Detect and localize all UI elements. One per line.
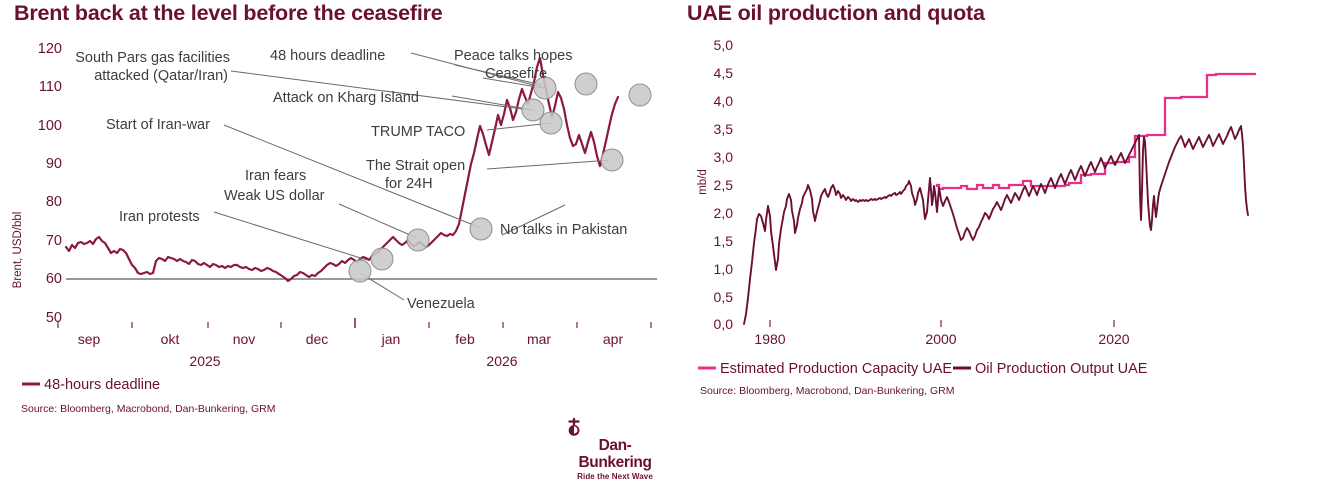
- x-tick-sep: sep: [78, 331, 101, 347]
- y-tick-1-5: 1,5: [714, 233, 734, 249]
- x-year-2025: 2025: [189, 353, 220, 369]
- brent-chart: 120 110 100 90 80 70 60 50 Brent, USD/bb…: [0, 0, 671, 468]
- anchor-b-icon: [563, 418, 667, 437]
- annotation-ceasefire: Ceasefire: [485, 66, 547, 82]
- y-tick-110: 110: [39, 79, 62, 95]
- annotation-attack-kharg: Attack on Kharg Island: [273, 90, 419, 106]
- y-tick-50: 50: [46, 310, 62, 326]
- y-tick-100: 100: [38, 118, 62, 134]
- uae-chart-svg-wrap: 5,0 4,5 4,0 3,5 3,0 2,5 2,0 1,5 1,0 0,5 …: [671, 0, 1342, 468]
- annotation-weak-us-dollar: Weak US dollar: [224, 188, 325, 204]
- x-axis-ticks-right: [770, 320, 1114, 327]
- uae-chart-panel: UAE oil production and quota 5,0 4,5 4,0…: [671, 0, 1342, 468]
- annotation-strait-open-line1: The Strait open: [366, 158, 465, 174]
- uae-chart: 5,0 4,5 4,0 3,5 3,0 2,5 2,0 1,5 1,0 0,5 …: [671, 0, 1342, 468]
- annotation-strait-open-line2: for 24H: [385, 176, 433, 192]
- y-tick-4-5: 4,5: [714, 65, 734, 81]
- marker-venezuela[interactable]: [349, 260, 371, 282]
- annotation-south-pars-line2: attacked (Qatar/Iran): [94, 68, 228, 84]
- x-tick-jan: jan: [381, 331, 401, 347]
- logo-tagline-left: Ride the Next Wave: [563, 471, 667, 482]
- x-axis-ticks-left: [58, 318, 651, 328]
- annotation-48-hours-deadline: 48 hours deadline: [270, 48, 385, 64]
- brent-chart-panel: Brent back at the level before the cease…: [0, 0, 671, 468]
- y-tick-120: 120: [38, 41, 62, 57]
- x-tick-mar: mar: [527, 331, 551, 347]
- y-axis-left: 120 110 100 90 80 70 60 50: [38, 41, 62, 326]
- y-tick-60: 60: [46, 271, 62, 287]
- y-tick-0-0: 0,0: [714, 316, 734, 332]
- source-note-left: Source: Bloomberg, Macrobond, Dan-Bunker…: [21, 403, 275, 415]
- x-tick-2000: 2000: [925, 331, 956, 347]
- legend-label-output: Oil Production Output UAE: [975, 361, 1148, 377]
- x-tick-okt: okt: [161, 331, 180, 347]
- y-tick-3-0: 3,0: [714, 149, 734, 165]
- marker-no-talks-pakistan[interactable]: [629, 84, 651, 106]
- marker-strait-open[interactable]: [601, 149, 623, 171]
- dan-bunkering-logo-left: Dan-Bunkering Ride the Next Wave: [563, 418, 667, 482]
- y-tick-80: 80: [46, 194, 62, 210]
- marker-attack-kharg[interactable]: [522, 99, 544, 121]
- marker-start-iran-war[interactable]: [470, 218, 492, 240]
- capacity-step-line: [937, 74, 1256, 189]
- y-tick-2-5: 2,5: [714, 177, 734, 193]
- annotation-venezuela: Venezuela: [407, 296, 476, 312]
- y-tick-4-0: 4,0: [714, 93, 734, 109]
- y-axis-title-right: mb/d: [697, 169, 709, 195]
- x-tick-dec: dec: [306, 331, 329, 347]
- y-tick-70: 70: [46, 233, 62, 249]
- logo-wordmark-left: Dan-Bunkering: [563, 437, 667, 471]
- annotation-peace-talks: Peace talks hopes: [454, 48, 573, 64]
- brent-chart-svg-wrap: 120 110 100 90 80 70 60 50 Brent, USD/bb…: [0, 0, 671, 468]
- marker-trump-taco[interactable]: [540, 112, 562, 134]
- marker-iran-protests[interactable]: [371, 248, 393, 270]
- legend-right: Estimated Production Capacity UAE Oil Pr…: [698, 361, 1148, 377]
- y-axis-title-left: Brent, USD/bbl: [12, 212, 24, 289]
- y-tick-0-5: 0,5: [714, 289, 734, 305]
- source-note-right: Source: Bloomberg, Macrobond, Dan-Bunker…: [700, 385, 954, 397]
- legend-label-capacity: Estimated Production Capacity UAE: [720, 361, 952, 377]
- annotation-south-pars-line1: South Pars gas facilities: [75, 50, 230, 66]
- x-tick-feb: feb: [455, 331, 475, 347]
- annotation-trump-taco: TRUMP TACO: [371, 124, 465, 140]
- x-tick-apr: apr: [603, 331, 624, 347]
- marker-iran-fears[interactable]: [407, 229, 429, 251]
- y-tick-3-5: 3,5: [714, 121, 734, 137]
- y-tick-1-0: 1,0: [714, 261, 734, 277]
- annotation-iran-fears: Iran fears: [245, 168, 306, 184]
- annotation-start-iran-war: Start of Iran-war: [106, 117, 210, 133]
- y-tick-5-0: 5,0: [714, 37, 734, 53]
- anchor-b-glyph: [563, 418, 585, 438]
- annotation-iran-protests: Iran protests: [119, 209, 200, 225]
- legend-label-48-hours: 48-hours deadline: [44, 377, 160, 393]
- x-axis-month-labels: sep okt nov dec jan feb mar apr: [78, 331, 624, 347]
- y-axis-right: 5,0 4,5 4,0 3,5 3,0 2,5 2,0 1,5 1,0 0,5 …: [714, 37, 734, 332]
- x-year-2026: 2026: [486, 353, 517, 369]
- production-output-line: [744, 126, 1248, 324]
- x-tick-1980: 1980: [754, 331, 785, 347]
- x-tick-nov: nov: [233, 331, 256, 347]
- marker-peace-talks-hopes[interactable]: [575, 73, 597, 95]
- y-tick-90: 90: [46, 156, 62, 172]
- x-tick-2020: 2020: [1098, 331, 1129, 347]
- y-tick-2-0: 2,0: [714, 205, 734, 221]
- annotation-no-talks-pakistan: No talks in Pakistan: [500, 222, 627, 238]
